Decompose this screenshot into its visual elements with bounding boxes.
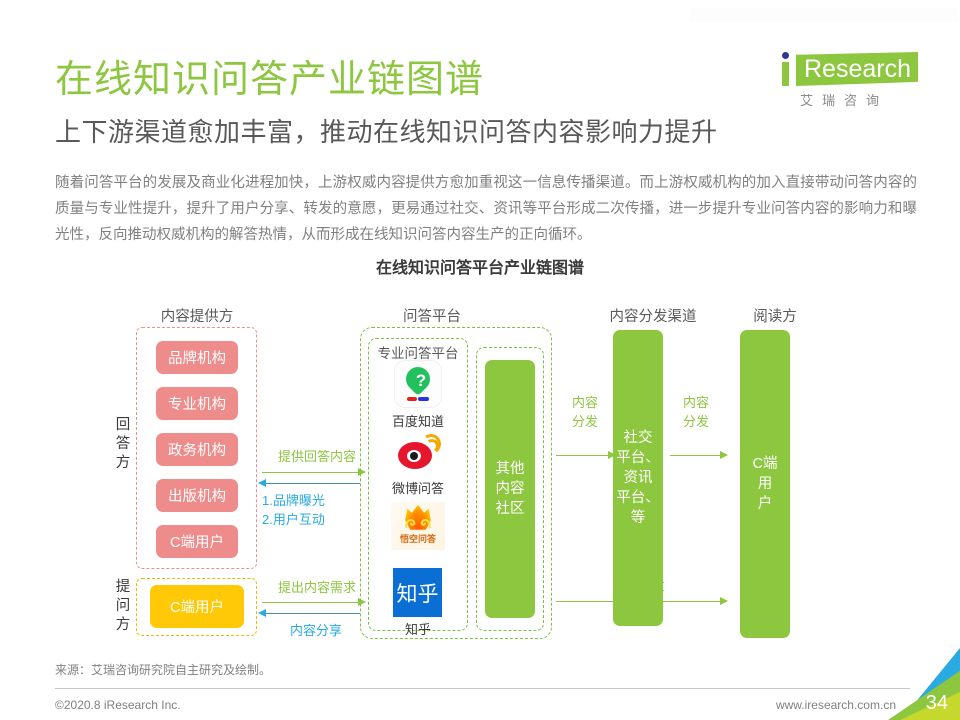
column-header-distribution: 内容分发渠道 bbox=[588, 305, 718, 326]
arrow-line-distribute-bottom bbox=[556, 601, 722, 602]
wukong-wordmark: 悟空问答 bbox=[391, 532, 445, 545]
social-line-3: 平台、 bbox=[616, 488, 660, 508]
other-community-line-1: 内容 bbox=[496, 479, 525, 499]
arrow-line-content-share bbox=[262, 613, 360, 614]
side-label-answerers: 回答方 bbox=[114, 416, 132, 473]
reader-line-2: 户 bbox=[758, 494, 773, 514]
arrow-label-distribute-b-line2: 分发 bbox=[673, 411, 719, 430]
baidu-underline-blue bbox=[418, 397, 429, 401]
page-number: 34 bbox=[926, 692, 948, 715]
asker-item-label: C端用户 bbox=[170, 596, 224, 617]
wukong-swirl-shape bbox=[404, 516, 432, 530]
logo-wukong[interactable]: 悟空问答 bbox=[391, 502, 445, 550]
arrow-label-content-share: 内容分享 bbox=[262, 620, 370, 639]
reader-c-end-user-bar[interactable]: C端 用 户 bbox=[740, 330, 790, 638]
wukong-icon: 悟空问答 bbox=[391, 502, 445, 550]
weibo-pupil-dark bbox=[410, 452, 418, 460]
arrow-label-provide-answer: 提供回答内容 bbox=[262, 446, 372, 465]
body-paragraph: 随着问答平台的发展及商业化进程加快，上游权威内容提供方愈加重视这一信息传播渠道。… bbox=[55, 170, 917, 248]
logo-wordmark: Research bbox=[804, 55, 911, 84]
provider-item-0[interactable]: 品牌机构 bbox=[156, 341, 238, 374]
arrow-label-distribute-bottom: 内容分发 bbox=[584, 575, 694, 594]
reader-line-1: 用 bbox=[758, 474, 773, 494]
social-line-1: 平台、 bbox=[616, 448, 660, 468]
logo-chinese-name: 艾瑞咨询 bbox=[800, 90, 888, 109]
reader-line-0: C端 bbox=[753, 454, 778, 474]
other-community-line-2: 社区 bbox=[496, 499, 525, 519]
social-line-2: 资讯 bbox=[624, 468, 653, 488]
arrow-label-distribute-a-line1: 内容 bbox=[562, 392, 608, 411]
column-header-providers: 内容提供方 bbox=[137, 305, 257, 326]
slide-page: Research 艾瑞咨询 在线知识问答产业链图谱 上下游渠道愈加丰富，推动在线… bbox=[0, 0, 960, 720]
top-spacer bbox=[690, 8, 958, 22]
logo-baidu-zhidao[interactable]: ? bbox=[395, 361, 441, 407]
professional-platform-label: 专业问答平台 bbox=[368, 342, 468, 362]
social-line-0: 社交 bbox=[624, 428, 653, 448]
weibo-icon bbox=[396, 430, 440, 474]
arrow-label-distribute-a-line2: 分发 bbox=[562, 411, 608, 430]
baidu-underline-red bbox=[407, 397, 417, 401]
logo-i-stem bbox=[782, 62, 789, 86]
page-subtitle: 上下游渠道愈加丰富，推动在线知识问答内容影响力提升 bbox=[55, 112, 718, 149]
zhihu-wordmark: 知乎 bbox=[393, 568, 442, 617]
other-community-line-0: 其他 bbox=[496, 459, 525, 479]
logo-caption-baidu: 百度知道 bbox=[368, 411, 468, 430]
social-line-4: 等 bbox=[631, 508, 646, 528]
provider-item-1-label: 专业机构 bbox=[168, 393, 226, 414]
arrow-label-user-interaction: 2.用户互动 bbox=[262, 509, 362, 528]
column-header-platform: 问答平台 bbox=[372, 305, 492, 326]
footer-divider bbox=[55, 688, 910, 689]
arrow-line-brand-exposure bbox=[262, 483, 360, 484]
asker-item-c-end-user[interactable]: C端用户 bbox=[150, 585, 244, 628]
column-header-readers: 阅读方 bbox=[728, 305, 822, 326]
arrow-head-distribute-b bbox=[720, 451, 728, 459]
arrow-head-distribute-bottom bbox=[720, 597, 728, 605]
copyright-text: ©2020.8 iResearch Inc. bbox=[55, 698, 181, 712]
arrow-head-content-share bbox=[258, 609, 266, 617]
iresearch-logo: Research 艾瑞咨询 bbox=[778, 50, 918, 110]
arrow-line-content-demand bbox=[262, 602, 360, 603]
page-title: 在线知识问答产业链图谱 bbox=[55, 48, 484, 103]
provider-item-4[interactable]: C端用户 bbox=[156, 525, 238, 558]
provider-item-0-label: 品牌机构 bbox=[168, 347, 226, 368]
side-label-answerers-text: 回答方 bbox=[116, 417, 131, 471]
figure-title: 在线知识问答平台产业链图谱 bbox=[0, 254, 960, 278]
logo-caption-zhihu: 知乎 bbox=[368, 619, 468, 638]
arrow-label-content-demand: 提出内容需求 bbox=[262, 577, 372, 596]
provider-item-2[interactable]: 政务机构 bbox=[156, 433, 238, 466]
provider-item-4-label: C端用户 bbox=[170, 531, 224, 552]
side-label-askers-text: 提问方 bbox=[116, 579, 131, 633]
provider-item-3-label: 出版机构 bbox=[168, 485, 226, 506]
logo-weibo[interactable] bbox=[396, 430, 440, 474]
baidu-zhidao-icon: ? bbox=[395, 361, 441, 407]
logo-mark: Research bbox=[778, 50, 918, 88]
source-note: 来源：艾瑞咨询研究院自主研究及绘制。 bbox=[55, 661, 271, 678]
logo-zhihu[interactable]: 知乎 bbox=[393, 568, 442, 617]
provider-item-1[interactable]: 专业机构 bbox=[156, 387, 238, 420]
provider-item-2-label: 政务机构 bbox=[168, 439, 226, 460]
logo-caption-weibo: 微博问答 bbox=[368, 478, 468, 497]
baidu-question-mark: ? bbox=[409, 370, 433, 394]
arrow-label-brand-exposure: 1.品牌曝光 bbox=[262, 490, 362, 509]
website-url: www.iresearch.com.cn bbox=[776, 698, 896, 712]
logo-i-dot bbox=[782, 52, 789, 59]
zhihu-icon: 知乎 bbox=[393, 568, 442, 617]
arrow-line-distribute-a bbox=[556, 455, 610, 456]
side-label-askers: 提问方 bbox=[114, 578, 132, 635]
arrow-line-distribute-b bbox=[670, 455, 722, 456]
provider-item-3[interactable]: 出版机构 bbox=[156, 479, 238, 512]
arrow-label-distribute-b-line1: 内容 bbox=[673, 392, 719, 411]
other-content-community-bar[interactable]: 其他 内容 社区 bbox=[485, 360, 535, 618]
arrow-head-brand-exposure bbox=[258, 479, 266, 487]
arrow-line-provide-answer bbox=[262, 472, 360, 473]
